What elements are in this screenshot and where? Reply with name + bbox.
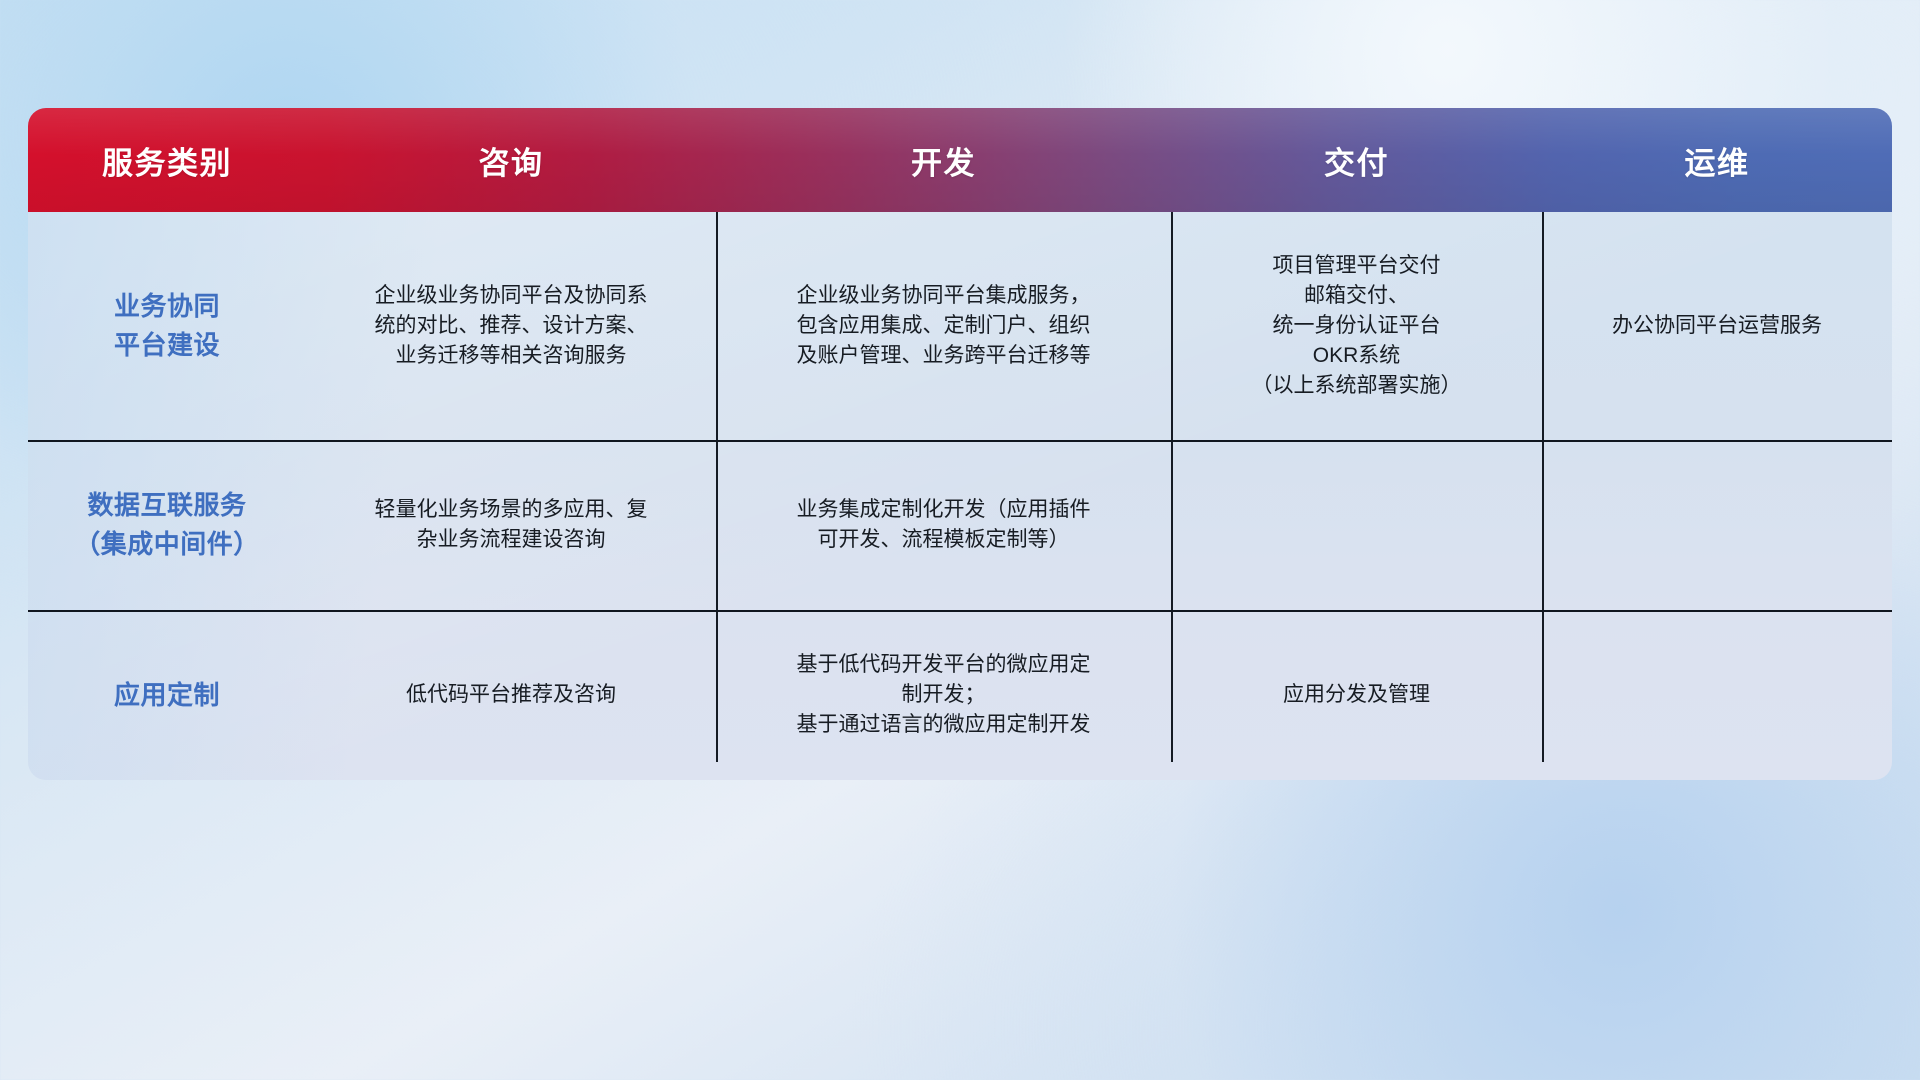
cell-delivery: 项目管理平台交付 邮箱交付、 统一身份认证平台 OKR系统 （以上系统部署实施） <box>1171 245 1542 406</box>
table-row: 数据互联服务 （集成中间件） 轻量化业务场景的多应用、复 杂业务流程建设咨询 业… <box>28 440 1892 610</box>
cell-delivery: 应用分发及管理 <box>1171 674 1542 716</box>
row-divider-1 <box>28 440 1892 442</box>
cell-operations <box>1542 519 1892 531</box>
table-body: 业务协同 平台建设 企业级业务协同平台及协同系 统的对比、推荐、设计方案、 业务… <box>28 212 1892 780</box>
row-category-label: 数据互联服务 （集成中间件） <box>28 480 306 570</box>
service-matrix-table: 服务类别 咨询 开发 交付 运维 业务协同 平台建设 企业级业务协同平台及协同系… <box>28 108 1892 780</box>
cell-operations: 办公协同平台运营服务 <box>1542 305 1892 347</box>
cell-consulting: 低代码平台推荐及咨询 <box>306 674 716 716</box>
column-header-development: 开发 <box>716 138 1171 183</box>
row-category-label: 业务协同 平台建设 <box>28 281 306 371</box>
table-row: 应用定制 低代码平台推荐及咨询 基于低代码开发平台的微应用定 制开发； 基于通过… <box>28 610 1892 780</box>
column-header-delivery: 交付 <box>1171 138 1542 183</box>
column-header-consulting: 咨询 <box>306 138 716 183</box>
column-divider-3 <box>1542 212 1544 762</box>
cell-development: 基于低代码开发平台的微应用定 制开发； 基于通过语言的微应用定制开发 <box>716 644 1171 745</box>
column-divider-2 <box>1171 212 1173 762</box>
row-category-label: 应用定制 <box>28 670 306 721</box>
row-divider-2 <box>28 610 1892 612</box>
cell-consulting: 企业级业务协同平台及协同系 统的对比、推荐、设计方案、 业务迁移等相关咨询服务 <box>306 275 716 376</box>
table-row: 业务协同 平台建设 企业级业务协同平台及协同系 统的对比、推荐、设计方案、 业务… <box>28 212 1892 440</box>
cell-operations <box>1542 689 1892 701</box>
cell-delivery <box>1171 519 1542 531</box>
table-header-row: 服务类别 咨询 开发 交付 运维 <box>28 108 1892 212</box>
column-header-operations: 运维 <box>1542 138 1892 183</box>
column-header-category: 服务类别 <box>28 138 306 183</box>
cell-development: 企业级业务协同平台集成服务， 包含应用集成、定制门户、组织 及账户管理、业务跨平… <box>716 275 1171 376</box>
cell-development: 业务集成定制化开发（应用插件 可开发、流程模板定制等） <box>716 489 1171 561</box>
column-divider-1 <box>716 212 718 762</box>
cell-consulting: 轻量化业务场景的多应用、复 杂业务流程建设咨询 <box>306 489 716 561</box>
